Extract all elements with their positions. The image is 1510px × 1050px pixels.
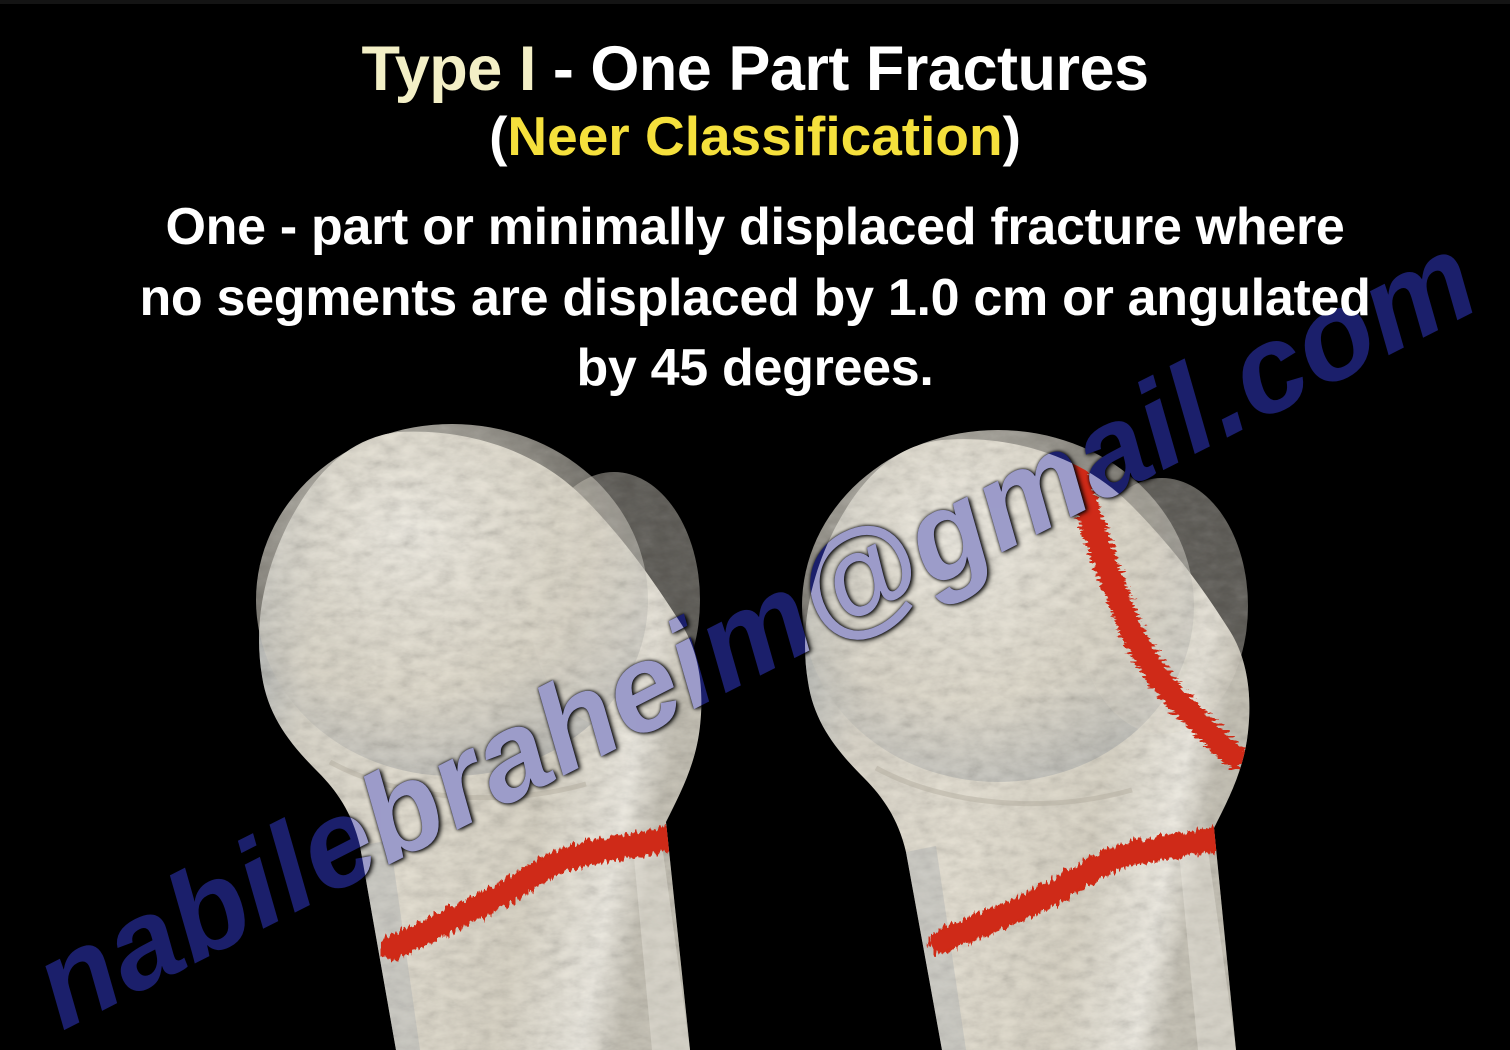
subtitle-label: Neer Classification bbox=[507, 105, 1002, 167]
page-title: Type I - One Part Fractures bbox=[0, 0, 1510, 102]
proximal-humerus-right bbox=[802, 430, 1249, 1050]
title-rest-label: - One Part Fractures bbox=[536, 34, 1149, 104]
definition-line-2: no segments are displaced by 1.0 cm or a… bbox=[0, 263, 1510, 334]
title-type-label: Type I bbox=[361, 34, 535, 104]
subtitle: (Neer Classification) bbox=[0, 102, 1510, 166]
subtitle-open-paren: ( bbox=[489, 105, 507, 167]
slide-canvas: nabilebraheim@gmail.com nabilebraheim@gm… bbox=[0, 0, 1510, 1050]
definition-line-1: One - part or minimally displaced fractu… bbox=[0, 192, 1510, 263]
left-greater-tuberosity bbox=[528, 472, 700, 728]
definition-text: One - part or minimally displaced fractu… bbox=[0, 166, 1510, 404]
subtitle-close-paren: ) bbox=[1003, 105, 1021, 167]
definition-line-3: by 45 degrees. bbox=[0, 333, 1510, 404]
slide-text-block: Type I - One Part Fractures (Neer Classi… bbox=[0, 0, 1510, 404]
proximal-humerus-left bbox=[256, 424, 701, 1050]
